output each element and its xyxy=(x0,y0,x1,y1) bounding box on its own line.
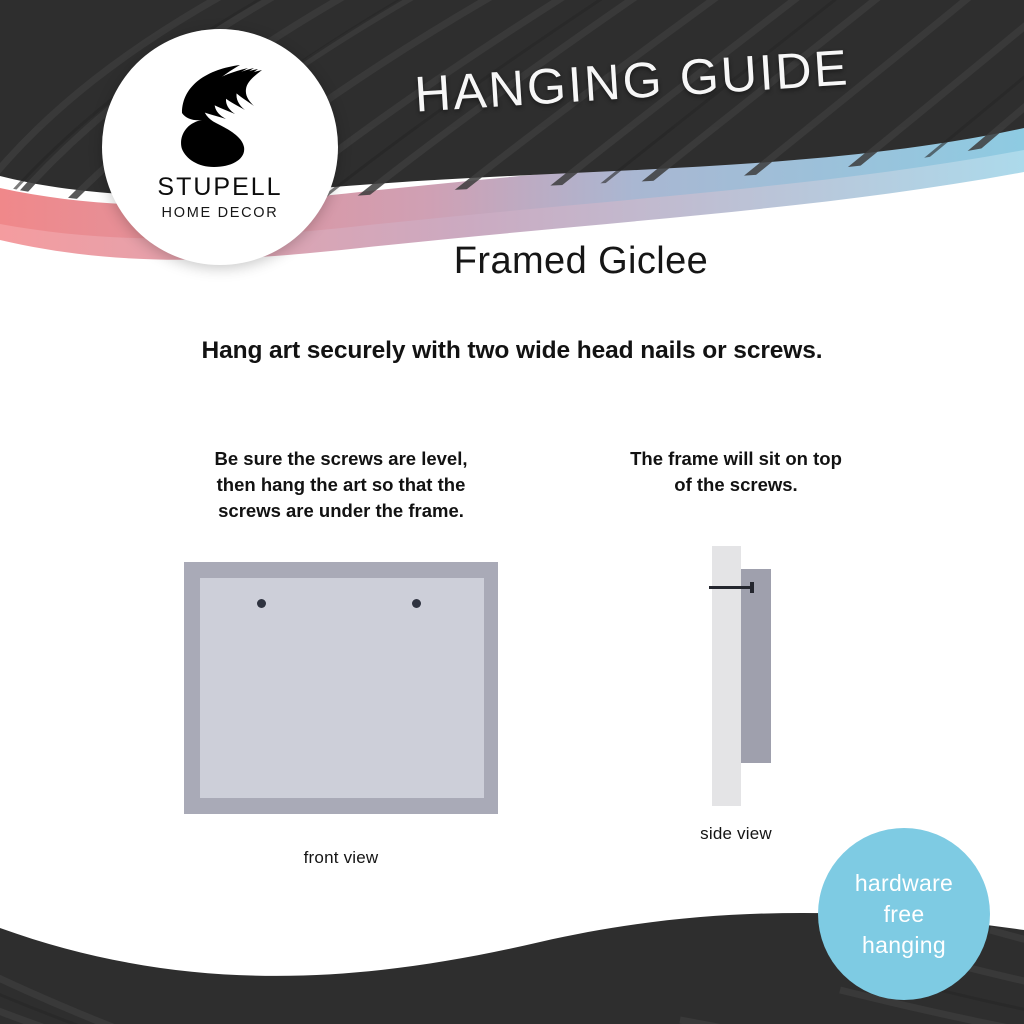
hanging-guide-page: STUPELL HOME DECOR HANGING GUIDE Framed … xyxy=(0,0,1024,1024)
nail-icon xyxy=(709,582,757,593)
screw-dot-left-icon xyxy=(257,599,266,608)
lead-instruction-text: Hang art securely with two wide head nai… xyxy=(201,337,822,364)
product-type-title: Framed Giclee xyxy=(0,240,1024,283)
badge-line-2: free xyxy=(884,899,925,930)
front-view-label: front view xyxy=(135,848,547,868)
side-view-diagram xyxy=(560,544,912,806)
side-view-frame xyxy=(741,569,771,763)
product-type-text: Framed Giclee xyxy=(454,240,708,283)
brand-logo-badge: STUPELL HOME DECOR xyxy=(102,29,338,265)
page-title: HANGING GUIDE xyxy=(371,36,894,127)
logo-brand-subtitle: HOME DECOR xyxy=(162,205,279,221)
lead-instruction: Hang art securely with two wide head nai… xyxy=(0,337,1024,365)
front-view-diagram xyxy=(184,562,498,814)
badge-line-3: hanging xyxy=(862,930,946,961)
side-view-caption: The frame will sit on top of the screws. xyxy=(560,446,912,498)
side-view-panel: The frame will sit on top of the screws.… xyxy=(560,446,912,844)
stupell-swoosh-logo-icon xyxy=(156,51,284,169)
badge-line-1: hardware xyxy=(855,868,953,899)
front-view-mat xyxy=(200,578,484,798)
nail-head xyxy=(750,582,754,593)
screw-dot-right-icon xyxy=(412,599,421,608)
page-title-text: HANGING GUIDE xyxy=(413,39,851,122)
front-view-panel: Be sure the screws are level, then hang … xyxy=(135,446,547,868)
front-view-caption: Be sure the screws are level, then hang … xyxy=(135,446,547,524)
logo-brand-name: STUPELL xyxy=(157,173,282,202)
hardware-free-badge: hardware free hanging xyxy=(818,828,990,1000)
nail-shaft xyxy=(709,586,753,589)
